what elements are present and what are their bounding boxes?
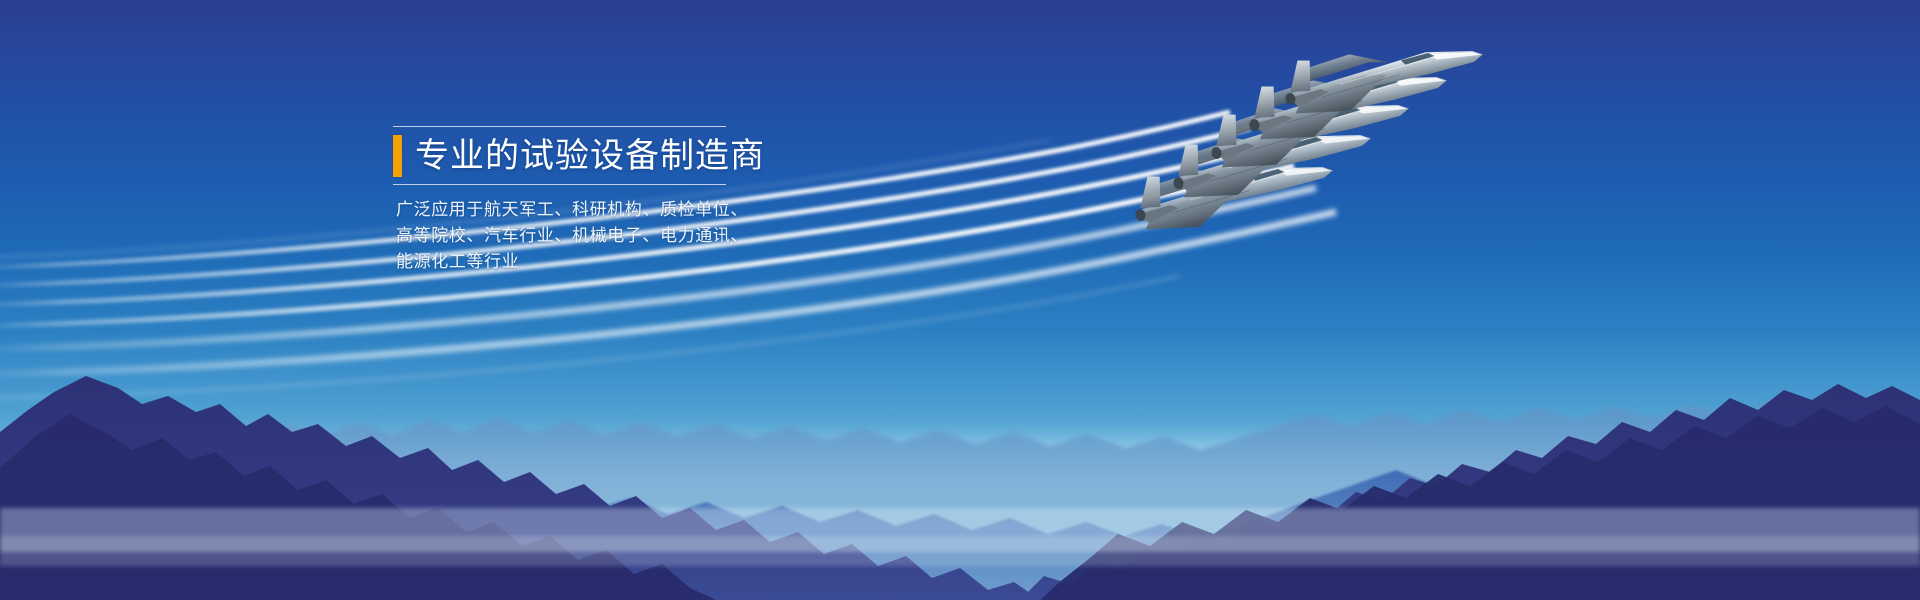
mountain-range-icon: [0, 340, 1920, 600]
orange-accent-bar: [393, 135, 402, 177]
banner-copy-block: 专业的试验设备制造商 广泛应用于航天军工、科研机构、质检单位、 高等院校、汽车行…: [393, 126, 738, 275]
page-title: 专业的试验设备制造商: [415, 135, 765, 177]
subtitle-line-1: 广泛应用于航天军工、科研机构、质检单位、: [396, 197, 738, 223]
hero-banner: 专业的试验设备制造商 广泛应用于航天军工、科研机构、质检单位、 高等院校、汽车行…: [0, 0, 1920, 600]
headline-row: 专业的试验设备制造商: [393, 135, 738, 177]
divider-line-bottom: [393, 184, 726, 185]
subtitle-line-2: 高等院校、汽车行业、机械电子、电力通讯、: [396, 223, 738, 249]
subtitle-line-3: 能源化工等行业: [396, 249, 738, 275]
subtitle-block: 广泛应用于航天军工、科研机构、质检单位、 高等院校、汽车行业、机械电子、电力通讯…: [396, 197, 738, 275]
fighter-jet-formation-icon: [1120, 40, 1520, 280]
divider-line-top: [393, 126, 726, 127]
